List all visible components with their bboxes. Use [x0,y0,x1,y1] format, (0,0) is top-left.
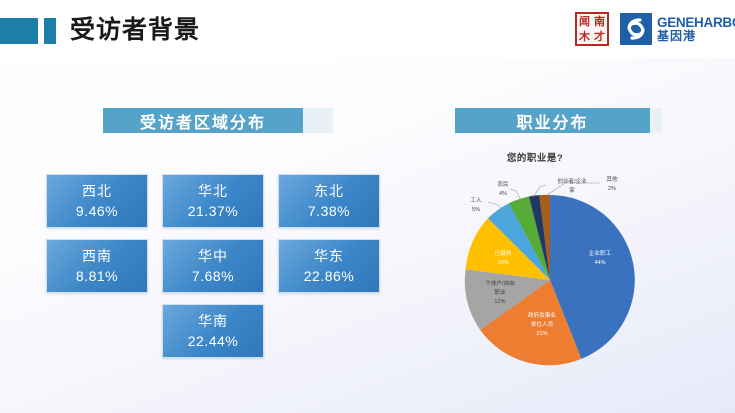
pie-label-zhengfushiye-1: 政府及事业 [528,311,556,319]
pie-label-nongmin: 农民 [497,180,509,188]
geneharbor-mark-icon [620,13,652,45]
brand-name-cn: 基因港 [657,30,735,43]
region-value: 7.38% [308,201,350,221]
seal-char-1: 闻 [577,14,592,29]
region-box-huazhong[interactable]: 华中 7.68% [162,239,264,293]
region-name: 华南 [198,312,228,331]
pie-label-gongren: 工人 [470,197,482,204]
pie-value-qiyezhigong: 44% [594,260,605,266]
region-distribution-grid: 西北 9.46% 华北 21.37% 东北 7.38% 西南 8.81% 华中 … [46,174,380,369]
pie-label-chuangyezhe-1: 创业者/企业 [557,177,587,185]
section-title-left-tail [303,108,333,133]
header-accent-block-narrow [44,18,56,44]
region-name: 华北 [198,182,228,201]
region-box-xibei[interactable]: 西北 9.46% [46,174,148,228]
geneharbor-wordmark: GENEHARBOR 基因港 [657,16,735,43]
region-name: 华中 [198,247,228,266]
region-box-huanan[interactable]: 华南 22.44% [162,304,264,358]
region-name: 华东 [314,247,344,266]
region-value: 22.86% [304,266,354,286]
section-title-right-tail [650,108,662,133]
header-accent-block-wide [0,18,38,44]
pie-label-getihu-2: 职业 [494,288,506,296]
region-name: 西北 [82,182,112,201]
region-row: 华南 22.44% [46,304,380,358]
pie-label-getihu-1: 个体户/自由 [485,279,515,287]
region-box-huabei[interactable]: 华北 21.37% [162,174,264,228]
region-name: 东北 [314,182,344,201]
region-value: 8.81% [76,266,118,286]
region-row: 西北 9.46% 华北 21.37% 东北 7.38% [46,174,380,228]
pie-value-zhengfushiye: 21% [536,331,547,337]
page-title: 受访者背景 [70,13,200,47]
pie-label-qiyezhigong: 企业职工 [589,249,612,257]
region-box-dongbei[interactable]: 东北 7.38% [278,174,380,228]
region-name: 西南 [82,247,112,266]
slide-header: 受访者背景 闻 南 木 才 GENEHARBOR 基因港 [0,0,735,58]
region-value: 9.46% [76,201,118,221]
seal-char-3: 木 [577,29,592,44]
section-title-occupation-distribution: 职业分布 [455,108,650,133]
region-box-huadong[interactable]: 华东 22.86% [278,239,380,293]
region-value: 22.44% [188,331,238,351]
region-box-xinan[interactable]: 西南 8.81% [46,239,148,293]
occupation-pie-chart: 您的职业是? 企业职工 44% 政府及事业 单位人员 21% [400,145,735,405]
pie-value-qita: 2% [608,186,616,192]
region-value: 21.37% [188,201,238,221]
pie-value-yituixiu: 10% [497,260,508,266]
region-row: 西南 8.81% 华中 7.68% 华东 22.86% [46,239,380,293]
pie-label-zhengfushiye-2: 单位人员 [531,320,554,328]
pie-chart-svg: 企业职工 44% 政府及事业 单位人员 21% 个体户/自由 职业 12% 已退… [400,145,735,405]
pie-label-chuangyezhe-2: 家 [569,186,575,194]
seal-stamp-logo: 闻 南 木 才 [575,12,609,46]
pie-value-gongren: 5% [472,207,480,213]
slide-canvas: 受访者背景 闻 南 木 才 GENEHARBOR 基因港 受访者区域分布 职业分… [0,0,735,413]
section-title-region-distribution: 受访者区域分布 [103,108,303,133]
pie-label-qita: 其他 [606,175,618,183]
seal-char-2: 南 [592,14,607,29]
brand-name-en: GENEHARBOR [657,16,735,30]
geneharbor-logo: GENEHARBOR 基因港 [620,11,735,47]
section-title-label: 受访者区域分布 [140,109,266,133]
pie-value-nongmin: 4% [499,191,507,197]
pie-value-getihu: 12% [494,299,505,305]
seal-char-4: 才 [592,29,607,44]
section-title-label: 职业分布 [516,109,588,133]
pie-label-yituixiu: 已退休 [495,249,512,257]
region-value: 7.68% [192,266,234,286]
